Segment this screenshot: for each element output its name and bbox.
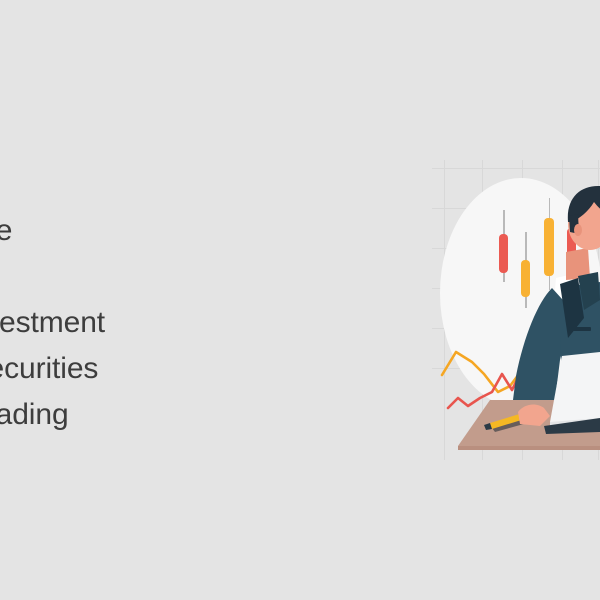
article-thumbnail-card: olds the g of an red Investment rom Secu… (0, 0, 600, 600)
headline-line-1: olds the (0, 208, 328, 254)
laptop (432, 160, 600, 460)
headline-line-3: red Investment (0, 300, 328, 346)
headline-line-2: g of an (0, 254, 328, 300)
hand (518, 405, 550, 426)
laptop-screen (550, 352, 600, 426)
headline-line-4: rom Securities (0, 346, 328, 392)
illustration-businessman-stock-charts (432, 160, 600, 460)
page-title: olds the g of an red Investment rom Secu… (0, 208, 328, 438)
headline-line-5: r Misleading (0, 392, 328, 438)
